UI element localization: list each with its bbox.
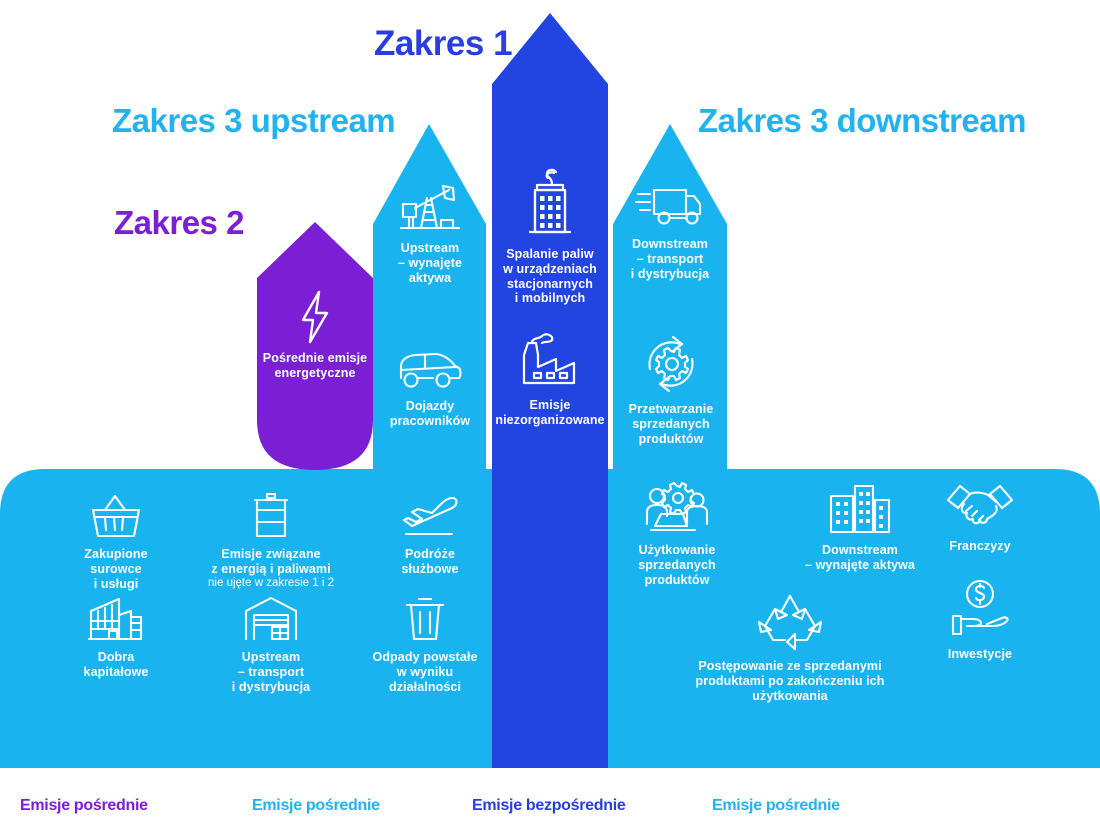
bottom-upstream-item-3-line-0: Dobra xyxy=(55,650,177,665)
bottom-downstream-item-1-line-0: Downstream xyxy=(790,543,930,558)
bottom-upstream-item-0: Zakupione surowce i usługi xyxy=(55,492,177,591)
scope3-upstream-item-0-line-2: aktywa xyxy=(372,271,488,286)
bottom-downstream-item-3-line-1: produktami po zakończeniu ich xyxy=(645,674,935,689)
bottom-downstream-item-3: Postępowanie ze sprzedanymi produktami p… xyxy=(645,592,935,703)
handshake-icon xyxy=(944,480,1016,532)
scope2-caption-line2: energetyczne xyxy=(245,366,385,381)
scope3-downstream-item-0-line-0: Downstream xyxy=(612,237,728,252)
bottom-upstream-item-5-line-0: Odpady powstałe xyxy=(360,650,490,665)
bottom-upstream-item-0-line-1: surowce xyxy=(55,562,177,577)
bottom-upstream-item-4-line-0: Upstream xyxy=(210,650,332,665)
trash-bin-icon xyxy=(403,595,447,643)
building-smokestack-icon xyxy=(519,166,581,240)
scope3-upstream-item-1-line-0: Dojazdy xyxy=(372,399,488,414)
gear-cycle-icon xyxy=(640,333,702,395)
bottom-upstream-item-4-line-1: – transport xyxy=(210,665,332,680)
footer-label-1: Emisje pośrednie xyxy=(252,797,380,815)
scope3-upstream-item-0-line-1: – wynajęte xyxy=(372,256,488,271)
scope1-item-0-line-1: w urządzeniach xyxy=(489,262,611,277)
bottom-upstream-item-0-line-2: i usługi xyxy=(55,577,177,592)
recycle-icon xyxy=(755,592,825,652)
scope3-upstream-item-1-line-1: pracowników xyxy=(372,414,488,429)
delivery-truck-icon xyxy=(634,182,706,230)
bottom-upstream-item-3-line-1: kapitałowe xyxy=(55,665,177,680)
scope1-item-1-line-0: Emisje xyxy=(487,398,613,413)
oil-barrel-icon xyxy=(249,492,293,540)
oil-pumpjack-icon xyxy=(397,182,463,234)
bottom-upstream-item-1-sub: nie ujęte w zakresie 1 i 2 xyxy=(185,577,357,591)
bottom-upstream-item-2-line-1: służbowe xyxy=(370,562,490,577)
heading-scope-3-downstream: Zakres 3 downstream xyxy=(698,102,1026,140)
scope3-downstream-item-1-line-0: Przetwarzanie xyxy=(610,402,732,417)
bottom-upstream-item-1-line-1: z energią i paliwami xyxy=(185,562,357,577)
scope1-item-1-line-1: niezorganizowane xyxy=(487,413,613,428)
bottom-upstream-item-5-line-2: działalności xyxy=(360,680,490,695)
footer-label-0: Emisje pośrednie xyxy=(20,797,148,815)
user-laptop-gear-icon xyxy=(641,480,713,536)
bottom-downstream-item-0-line-2: produktów xyxy=(612,573,742,588)
city-buildings-icon xyxy=(827,480,893,536)
bottom-downstream-item-0-line-1: sprzedanych xyxy=(612,558,742,573)
bottom-downstream-item-1: Downstream – wynajęte aktywa xyxy=(790,480,930,573)
heading-scope-1: Zakres 1 xyxy=(374,24,512,64)
bottom-upstream-item-2: Podróże służbowe xyxy=(370,492,490,577)
scope3-downstream-item-0: Downstream – transport i dystrybucja xyxy=(612,182,728,281)
car-icon xyxy=(395,350,465,392)
bottom-downstream-item-3-line-0: Postępowanie ze sprzedanymi xyxy=(645,659,935,674)
factory-icon xyxy=(516,333,584,391)
bottom-downstream-item-4-line-0: Inwestycje xyxy=(925,647,1035,662)
bottom-upstream-item-0-line-0: Zakupione xyxy=(55,547,177,562)
bottom-downstream-item-0-line-0: Użytkowanie xyxy=(612,543,742,558)
lightning-bolt-icon xyxy=(294,290,336,344)
scope3-downstream-item-1-line-2: produktów xyxy=(610,432,732,447)
scope1-item-0-line-2: stacjonarnych xyxy=(489,277,611,292)
bottom-upstream-item-5: Odpady powstałe w wyniku działalności xyxy=(360,595,490,694)
capital-building-icon xyxy=(85,595,147,643)
airplane-icon xyxy=(398,492,462,540)
scope3-downstream-item-1-line-1: sprzedanych xyxy=(610,417,732,432)
heading-scope-3-upstream: Zakres 3 upstream xyxy=(112,102,395,140)
scope2-caption-line1: Pośrednie emisje xyxy=(245,351,385,366)
infographic-canvas: Zakres 1 Zakres 3 upstream Zakres 3 down… xyxy=(0,0,1100,837)
bottom-upstream-item-3: Dobra kapitałowe xyxy=(55,595,177,680)
bottom-downstream-item-2: Franczyzy xyxy=(925,480,1035,554)
scope3-upstream-item-0: Upstream – wynajęte aktywa xyxy=(372,182,488,285)
scope1-item-0-line-3: i mobilnych xyxy=(489,291,611,306)
heading-scope-2: Zakres 2 xyxy=(114,204,244,242)
scope2-block: Pośrednie emisje energetyczne xyxy=(245,290,385,381)
scope1-item-1: Emisje niezorganizowane xyxy=(487,333,613,428)
footer-label-3: Emisje pośrednie xyxy=(712,797,840,815)
scope1-item-0: Spalanie paliw w urządzeniach stacjonarn… xyxy=(489,166,611,306)
bottom-downstream-item-0: Użytkowanie sprzedanych produktów xyxy=(612,480,742,587)
bottom-upstream-item-4-line-2: i dystrybucja xyxy=(210,680,332,695)
scope3-upstream-item-0-line-0: Upstream xyxy=(372,241,488,256)
bottom-upstream-item-1-line-0: Emisje związane xyxy=(185,547,357,562)
bottom-upstream-item-2-line-0: Podróże xyxy=(370,547,490,562)
bottom-upstream-item-4: Upstream – transport i dystrybucja xyxy=(210,595,332,694)
bottom-upstream-item-1: Emisje związane z energią i paliwami nie… xyxy=(185,492,357,590)
bottom-downstream-item-3-line-2: użytkowania xyxy=(645,689,935,704)
shopping-basket-icon xyxy=(89,492,143,540)
scope3-downstream-item-0-line-2: i dystrybucja xyxy=(612,267,728,282)
bottom-downstream-item-2-line-0: Franczyzy xyxy=(925,539,1035,554)
hand-coin-icon xyxy=(947,578,1013,640)
scope3-upstream-item-1: Dojazdy pracowników xyxy=(372,350,488,429)
bottom-downstream-item-4: Inwestycje xyxy=(925,578,1035,662)
scope3-downstream-item-0-line-1: – transport xyxy=(612,252,728,267)
footer-label-2: Emisje bezpośrednie xyxy=(472,797,625,815)
bottom-downstream-item-1-line-1: – wynajęte aktywa xyxy=(790,558,930,573)
warehouse-icon xyxy=(242,595,300,643)
bottom-upstream-item-5-line-1: w wyniku xyxy=(360,665,490,680)
scope3-downstream-item-1: Przetwarzanie sprzedanych produktów xyxy=(610,333,732,446)
scope1-item-0-line-0: Spalanie paliw xyxy=(489,247,611,262)
